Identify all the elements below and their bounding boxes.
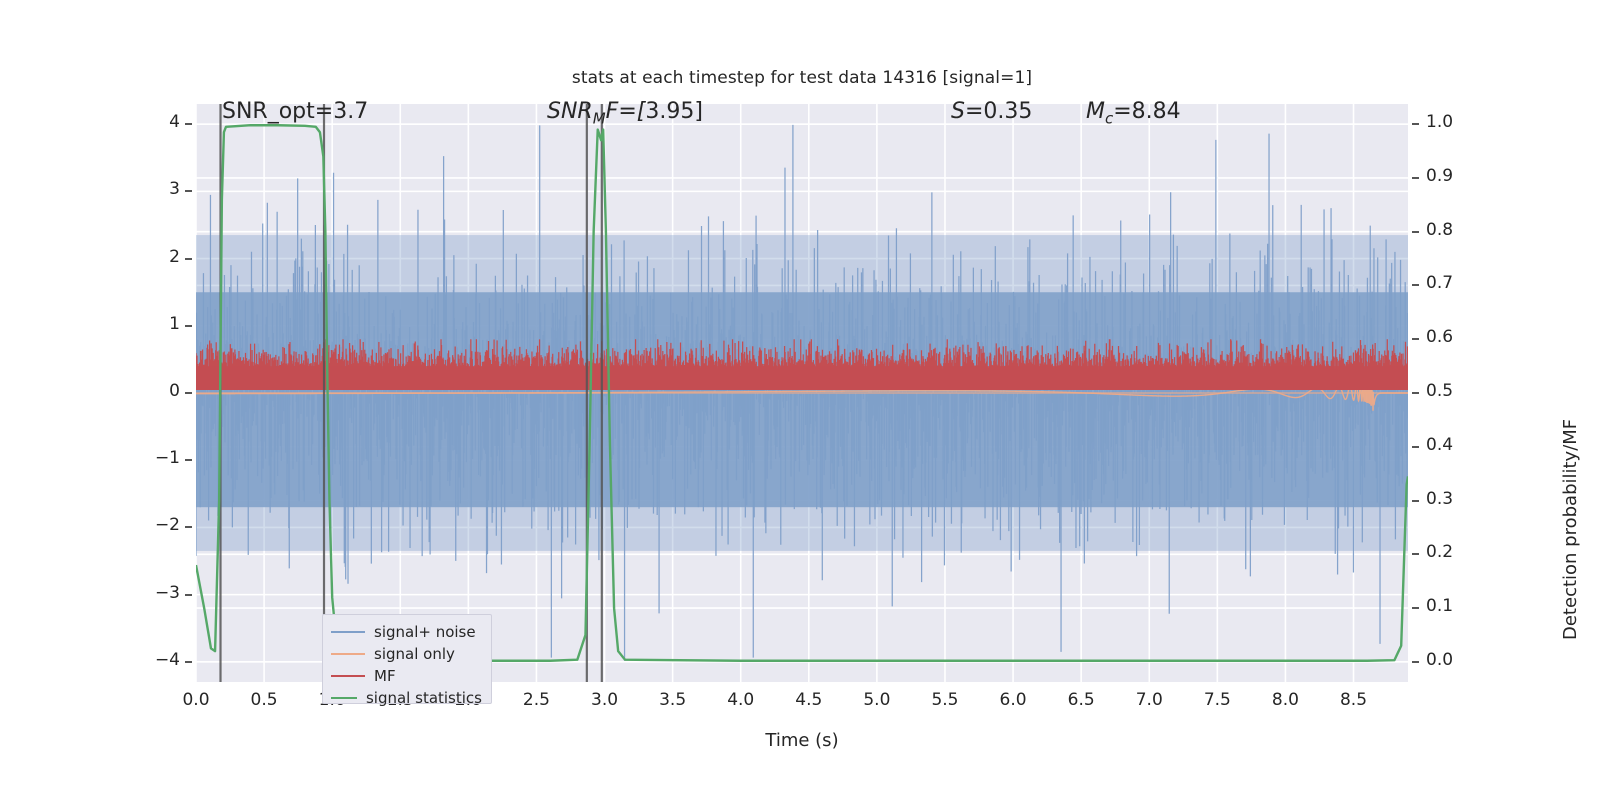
y-tick-mark-right [1412, 284, 1419, 286]
legend-swatch-signal-only [331, 653, 365, 655]
legend-label: signal statistics [366, 689, 482, 707]
y-tick-label-left: 2 [134, 247, 180, 267]
x-tick-label: 0.0 [166, 690, 226, 710]
x-tick-label: 5.5 [915, 690, 975, 710]
x-tick-label: 7.5 [1187, 690, 1247, 710]
x-tick-label: 5.0 [847, 690, 907, 710]
legend-swatch-signal-statistics [331, 697, 357, 699]
y-tick-label-right: 0.4 [1426, 435, 1476, 455]
y-tick-label-right: 0.1 [1426, 596, 1476, 616]
annotation-s-stat: S=0.35 [951, 99, 1032, 124]
x-axis-label: Time (s) [196, 730, 1408, 751]
annotation-mchirp: Mc=8.84 [1086, 99, 1181, 127]
y-tick-mark-left [185, 258, 192, 260]
y-tick-label-left: 1 [134, 314, 180, 334]
y-tick-label-right: 0.5 [1426, 381, 1476, 401]
y-tick-label-right: 0.0 [1426, 650, 1476, 670]
y-tick-mark-right [1412, 123, 1419, 125]
x-tick-label: 4.0 [711, 690, 771, 710]
y-tick-label-right: 0.9 [1426, 166, 1476, 186]
figure-canvas: stats at each timestep for test data 143… [0, 0, 1600, 800]
y-tick-label-right: 0.6 [1426, 327, 1476, 347]
annotation-snr-mf-value: 3.95 [645, 99, 694, 124]
legend-item[interactable]: signal only [331, 643, 482, 665]
legend-item[interactable]: signal statistics [331, 687, 482, 709]
y-tick-mark-right [1412, 392, 1419, 394]
x-tick-label: 8.5 [1324, 690, 1384, 710]
y-tick-mark-right [1412, 500, 1419, 502]
y-tick-mark-left [185, 661, 192, 663]
annotation-snr-mf: SNRMF=[3.95] [547, 99, 703, 127]
y-tick-mark-right [1412, 338, 1419, 340]
y-tick-label-right: 0.8 [1426, 220, 1476, 240]
legend-label: signal only [374, 645, 455, 663]
annotation-snr-mf-sub: M [593, 109, 606, 127]
legend-swatch-signal-noise [331, 631, 365, 633]
annotation-snr-opt-value: 3.7 [333, 99, 368, 124]
y-axis-label-left: Whitened strain [0, 157, 3, 300]
annotation-snr-opt: SNR_opt=3.7 [222, 99, 368, 124]
data-layer [196, 104, 1408, 682]
y-tick-mark-right [1412, 231, 1419, 233]
annotation-mchirp-value: =8.84 [1113, 99, 1180, 124]
y-tick-mark-left [185, 392, 192, 394]
x-tick-label: 2.5 [506, 690, 566, 710]
x-tick-label: 0.5 [234, 690, 294, 710]
legend-item[interactable]: MF [331, 665, 482, 687]
y-axis-label-right: Detection probability/MF [1560, 419, 1581, 640]
y-tick-mark-left [185, 190, 192, 192]
annotation-mchirp-sub: c [1105, 109, 1113, 127]
x-tick-label: 7.0 [1119, 690, 1179, 710]
y-tick-mark-right [1412, 553, 1419, 555]
annotation-snr-mf-mid: F=[ [606, 99, 646, 124]
x-tick-label: 3.0 [575, 690, 635, 710]
chart-title: stats at each timestep for test data 143… [196, 68, 1408, 88]
y-tick-mark-left [185, 526, 192, 528]
y-tick-mark-right [1412, 661, 1419, 663]
y-tick-label-right: 1.0 [1426, 112, 1476, 132]
y-tick-label-left: −4 [134, 650, 180, 670]
legend-label: signal+ noise [374, 623, 476, 641]
legend-item[interactable]: signal+ noise [331, 621, 482, 643]
y-tick-label-left: 3 [134, 179, 180, 199]
annotation-snr-opt-prefix: SNR_opt= [222, 99, 333, 124]
y-tick-mark-right [1412, 177, 1419, 179]
x-tick-label: 6.0 [983, 690, 1043, 710]
y-tick-label-left: −2 [134, 515, 180, 535]
x-tick-label: 8.0 [1255, 690, 1315, 710]
annotation-s-stat-value: =0.35 [965, 99, 1032, 124]
plot-area [196, 104, 1408, 682]
y-tick-label-left: −1 [134, 448, 180, 468]
y-tick-mark-right [1412, 446, 1419, 448]
x-tick-label: 3.5 [643, 690, 703, 710]
x-tick-label: 6.5 [1051, 690, 1111, 710]
annotation-s-stat-prefix: S [951, 99, 965, 124]
y-tick-label-left: 0 [134, 381, 180, 401]
y-tick-mark-right [1412, 607, 1419, 609]
y-tick-mark-left [185, 123, 192, 125]
y-tick-mark-left [185, 594, 192, 596]
y-tick-label-right: 0.3 [1426, 489, 1476, 509]
annotation-snr-mf-prefix: SNR [547, 99, 593, 124]
y-tick-mark-left [185, 325, 192, 327]
y-tick-mark-left [185, 459, 192, 461]
y-tick-label-right: 0.7 [1426, 273, 1476, 293]
annotation-snr-mf-suffix: ] [694, 99, 703, 124]
y-tick-label-left: 4 [134, 112, 180, 132]
annotation-mchirp-prefix: M [1086, 99, 1105, 124]
y-tick-label-right: 0.2 [1426, 542, 1476, 562]
legend: signal+ noise signal only MF signal stat… [322, 614, 492, 704]
legend-label: MF [374, 667, 396, 685]
y-tick-label-left: −3 [134, 583, 180, 603]
x-tick-label: 4.5 [779, 690, 839, 710]
legend-swatch-mf [331, 675, 365, 677]
